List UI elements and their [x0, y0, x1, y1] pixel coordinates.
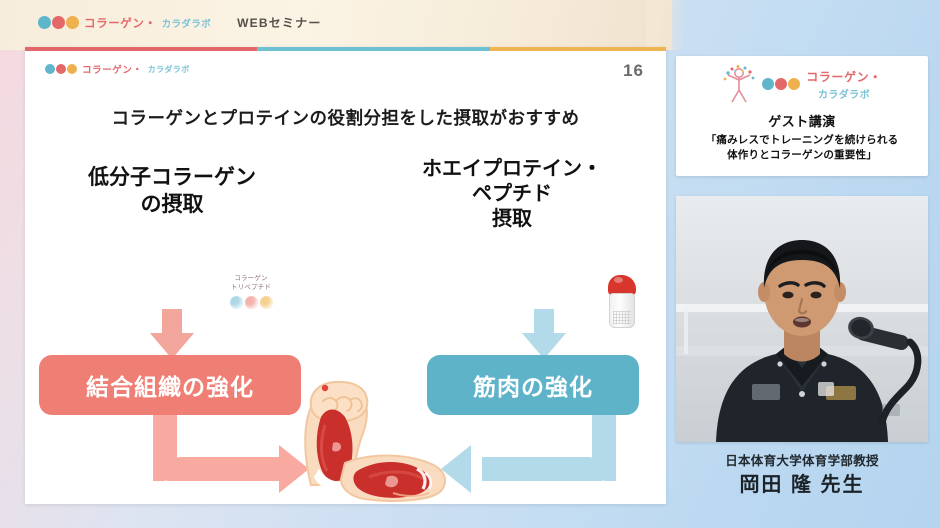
guest-lecture-subtitle: 「痛みレスでトレーニングを続けられる 体作りとコラーゲンの重要性」	[676, 133, 928, 163]
left-heading-line1: 低分子コラーゲン	[47, 165, 297, 192]
arrow-elbow-blue-icon	[441, 415, 616, 501]
guest-subtitle-line2: 体作りとコラーゲンの重要性」	[676, 148, 928, 163]
slide-title: コラーゲンとプロテインの役割分担をした摂取がおすすめ	[25, 105, 666, 130]
right-heading-line1: ホエイプロテイン・	[397, 157, 627, 182]
slide-brand-dots-icon	[45, 64, 77, 74]
tripeptide-dots-icon	[215, 296, 287, 309]
slide-accent-bar	[25, 47, 666, 51]
presentation-slide: コラーゲン・ カラダラボ 16 コラーゲンとプロテインの役割分担をした摂取がおす…	[25, 47, 666, 504]
right-heading-line2: ペプチド	[397, 182, 627, 207]
shaker-body	[609, 293, 635, 328]
shaker-cap	[608, 275, 636, 295]
guest-lecture-title: ゲスト講演	[676, 111, 928, 130]
tripeptide-line1: コラーゲン	[215, 275, 287, 284]
right-heading-line3: 摂取	[397, 207, 627, 232]
flexed-arm-illustration	[273, 377, 463, 507]
guest-lecture-card: コラーゲン・ カラダラボ ゲスト講演 「痛みレスでトレーニングを続けられる 体作…	[676, 56, 928, 176]
right-heading: ホエイプロテイン・ ペプチド 摂取	[397, 157, 627, 233]
tripeptide-line2: トリペプチド	[215, 284, 287, 293]
slide-brand-name-main: コラーゲン・	[82, 62, 143, 76]
protein-shaker-icon	[605, 275, 639, 329]
speaker-video-thumbnail[interactable]	[676, 196, 928, 442]
slide-brand-name-sub: カラダラボ	[148, 64, 190, 75]
accent-seg-teal	[257, 47, 489, 51]
slide-brand-logo: コラーゲン・ カラダラボ	[45, 62, 190, 76]
header-content: コラーゲン・ カラダラボ WEBセミナー	[38, 14, 322, 31]
slide-page-number: 16	[623, 61, 644, 81]
brand-name-main: コラーゲン・	[84, 15, 157, 31]
webinar-label: WEBセミナー	[237, 14, 321, 31]
mascot-figure-icon	[722, 64, 756, 104]
panel-brand-dots-icon	[762, 78, 800, 90]
header-band: コラーゲン・ カラダラボ WEBセミナー	[0, 0, 672, 50]
panel-brand-name-main: コラーゲン・	[806, 70, 882, 84]
accent-seg-red	[25, 47, 257, 51]
panel-brand-logo: コラーゲン・ カラダラボ	[676, 64, 928, 104]
webinar-screen: コラーゲン・ カラダラボ WEBセミナー コラーゲン・ カラダラボ 16 コラー…	[0, 0, 940, 528]
collagen-tripeptide-badge: コラーゲン トリペプチド	[215, 275, 287, 309]
guest-subtitle-line1: 「痛みレスでトレーニングを続けられる	[676, 133, 928, 148]
speaker-role: 日本体育大学体育学部教授	[676, 450, 928, 469]
arrow-down-blue-icon	[522, 309, 566, 359]
brand-dots-icon	[38, 16, 79, 29]
brand-name-sub: カラダラボ	[162, 16, 212, 30]
panel-brand-name-sub: カラダラボ	[806, 86, 882, 101]
speaker-name: 岡田 隆 先生	[676, 468, 928, 497]
left-heading: 低分子コラーゲン の摂取	[47, 165, 297, 219]
accent-seg-orange	[490, 47, 666, 51]
brand-logo: コラーゲン・ カラダラボ	[38, 15, 211, 31]
arrow-down-red-icon	[150, 309, 194, 359]
left-heading-line2: の摂取	[47, 192, 297, 219]
result-box-connective-tissue: 結合組織の強化	[39, 355, 301, 415]
